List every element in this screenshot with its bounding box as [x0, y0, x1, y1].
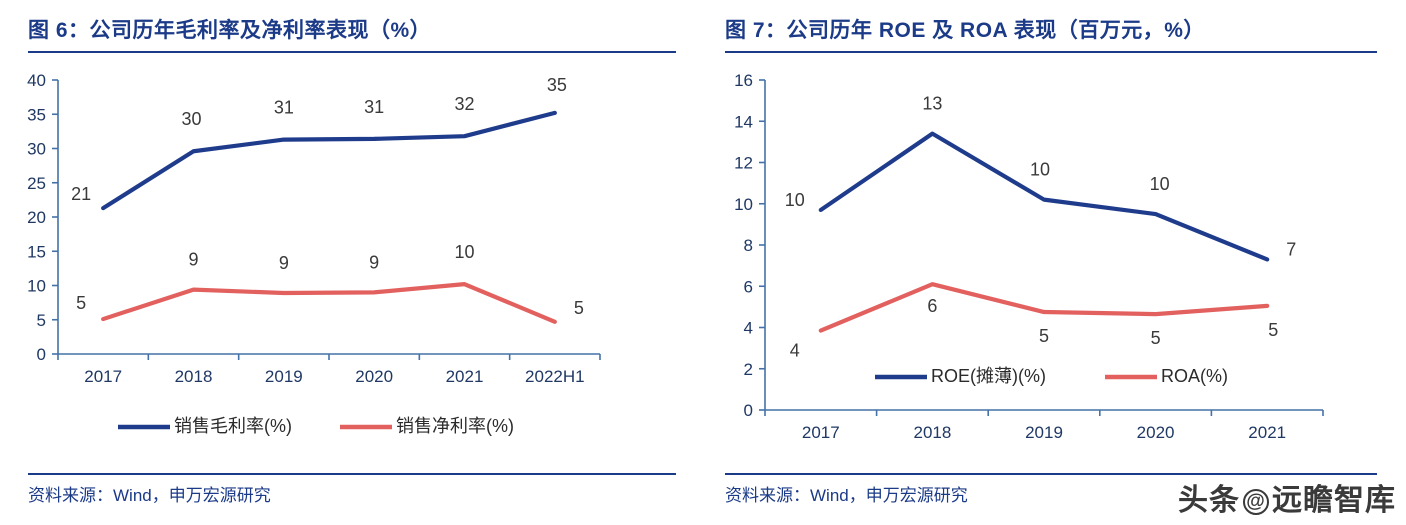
figure-panel-6: 图 6：公司历年毛利率及净利率表现（%） 0510152025303540201…: [0, 0, 703, 525]
figure-7-header: 图 7：公司历年 ROE 及 ROA 表现（百万元，%）: [725, 16, 1377, 53]
figure-panel-7: 图 7：公司历年 ROE 及 ROA 表现（百万元，%） 02468101214…: [703, 0, 1406, 525]
data-label: 5: [574, 298, 584, 318]
x-tick-label: 2018: [913, 423, 951, 442]
x-tick-label: 2017: [84, 367, 122, 386]
figure-6-source: 资料来源：Wind，申万宏源研究: [28, 485, 676, 507]
data-label: 5: [76, 293, 86, 313]
x-tick-label: 2021: [1248, 423, 1286, 442]
x-tick-label: 2019: [1025, 423, 1063, 442]
y-tick-label: 12: [734, 154, 753, 173]
data-label: 10: [785, 190, 805, 210]
figure-7-chart: 0246810121416201720182019202020211013101…: [703, 62, 1406, 462]
x-tick-label: 2020: [1137, 423, 1175, 442]
data-label: 9: [369, 252, 379, 272]
y-tick-label: 4: [744, 319, 753, 338]
data-label: 31: [274, 98, 294, 118]
legend-label-2: 销售净利率(%): [396, 416, 514, 436]
figure-6-chart: 0510152025303540201720182019202020212022…: [0, 62, 703, 462]
watermark: 头条@远瞻智库: [1178, 475, 1396, 519]
data-label: 30: [181, 109, 201, 129]
figure-6-chart-svg: 0510152025303540201720182019202020212022…: [0, 62, 703, 462]
figure-6-footer-rule: [28, 473, 676, 475]
y-tick-label: 14: [734, 112, 753, 131]
data-label: 10: [1030, 160, 1050, 180]
y-tick-label: 35: [27, 105, 46, 124]
y-tick-label: 16: [734, 71, 753, 90]
x-tick-label: 2021: [446, 367, 484, 386]
figure-7-chart-svg: 0246810121416201720182019202020211013101…: [703, 62, 1406, 462]
x-tick-label: 2017: [802, 423, 840, 442]
series-line-2: [821, 284, 1267, 330]
x-tick-label: 2020: [355, 367, 393, 386]
figure-7-header-rule: [725, 51, 1377, 53]
y-tick-label: 0: [744, 401, 753, 420]
x-tick-label: 2019: [265, 367, 303, 386]
y-tick-label: 30: [27, 140, 46, 159]
data-label: 9: [279, 253, 289, 273]
y-tick-label: 5: [37, 311, 46, 330]
legend-label-2: ROA(%): [1161, 366, 1228, 386]
data-label: 5: [1268, 320, 1278, 340]
data-label: 35: [547, 75, 567, 95]
data-label: 31: [364, 97, 384, 117]
y-tick-label: 8: [744, 236, 753, 255]
y-tick-label: 40: [27, 71, 46, 90]
data-label: 6: [927, 296, 937, 316]
y-tick-label: 15: [27, 242, 46, 261]
series-line-1: [103, 113, 555, 208]
y-tick-label: 0: [37, 345, 46, 364]
x-tick-label: 2018: [175, 367, 213, 386]
data-label: 32: [454, 94, 474, 114]
figure-6-header: 图 6：公司历年毛利率及净利率表现（%）: [28, 16, 676, 53]
data-label: 4: [790, 341, 800, 361]
data-label: 5: [1151, 328, 1161, 348]
figure-6-title: 图 6：公司历年毛利率及净利率表现（%）: [28, 16, 676, 46]
y-tick-label: 2: [744, 360, 753, 379]
data-label: 5: [1039, 326, 1049, 346]
figure-6-header-rule: [28, 51, 676, 53]
x-tick-label: 2022H1: [525, 367, 585, 386]
figure-7-title: 图 7：公司历年 ROE 及 ROA 表现（百万元，%）: [725, 16, 1377, 46]
data-label: 10: [1150, 174, 1170, 194]
watermark-account: 远瞻智库: [1272, 484, 1396, 517]
data-label: 13: [922, 94, 942, 114]
y-tick-label: 25: [27, 174, 46, 193]
watermark-at-icon: @: [1243, 489, 1269, 515]
figure-pair-page: 图 6：公司历年毛利率及净利率表现（%） 0510152025303540201…: [0, 0, 1406, 525]
legend-label-1: ROE(摊薄)(%): [931, 366, 1046, 386]
data-label: 7: [1286, 239, 1296, 259]
y-tick-label: 10: [734, 195, 753, 214]
y-tick-label: 6: [744, 277, 753, 296]
data-label: 21: [71, 184, 91, 204]
watermark-brand: 头条: [1178, 484, 1240, 517]
figure-6-footer: 资料来源：Wind，申万宏源研究: [28, 473, 676, 507]
y-tick-label: 10: [27, 277, 46, 296]
data-label: 10: [454, 242, 474, 262]
data-label: 9: [188, 250, 198, 270]
series-line-1: [821, 134, 1267, 260]
series-line-2: [103, 284, 555, 322]
y-tick-label: 20: [27, 208, 46, 227]
legend-label-1: 销售毛利率(%): [174, 416, 292, 436]
